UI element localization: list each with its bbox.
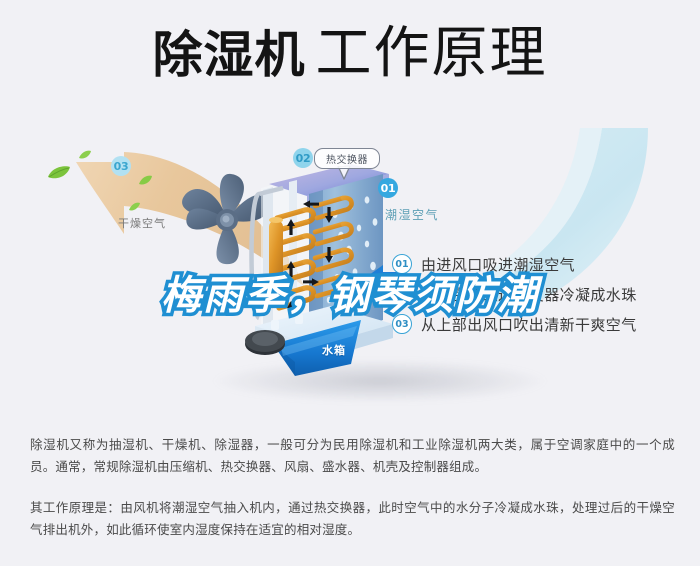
title-part-1: 除湿机 <box>153 26 306 84</box>
infographic-page: 除湿机工作原理 <box>0 0 700 566</box>
legend-text-01: 由进风口吸进潮湿空气 <box>421 254 575 275</box>
legend-item-01: 01 由进风口吸进潮湿空气 <box>392 249 692 279</box>
legend-number-01: 01 <box>392 254 412 274</box>
leaf-icon-4 <box>128 202 141 212</box>
title-part-2: 工作原理 <box>316 21 548 86</box>
leaf-icon-2 <box>78 150 92 160</box>
legend-text-02: 潮湿空气经过蒸发器冷凝成水珠 <box>421 284 637 305</box>
diagram-badge-02: 02 <box>293 148 313 168</box>
diagram-badge-01: 01 <box>378 178 398 198</box>
body-paragraph-1: 除湿机又称为抽湿机、干燥机、除湿器，一般可分为民用除湿机和工业除湿机两大类，属于… <box>30 434 675 478</box>
legend-number-03: 03 <box>392 314 412 334</box>
body-paragraph-2: 其工作原理是：由风机将潮湿空气抽入机内，通过热交换器，此时空气中的水分子冷凝成水… <box>30 497 675 541</box>
page-title: 除湿机工作原理 <box>0 26 700 82</box>
legend-item-03: 03 从上部出风口吹出清新干爽空气 <box>392 309 692 339</box>
legend-item-02: 02 潮湿空气经过蒸发器冷凝成水珠 <box>392 279 692 309</box>
legend-list: 01 由进风口吸进潮湿空气 02 潮湿空气经过蒸发器冷凝成水珠 03 从上部出风… <box>392 249 692 339</box>
legend-text-03: 从上部出风口吹出清新干爽空气 <box>421 314 637 335</box>
legend-number-02: 02 <box>392 284 412 304</box>
water-tank-label: 水箱 <box>322 342 346 358</box>
leaf-icon-3 <box>138 175 153 186</box>
leaf-icon-1 <box>46 165 72 181</box>
dry-air-label: 干燥空气 <box>118 215 166 231</box>
humid-air-label: 潮湿空气 <box>385 206 439 223</box>
heat-exchanger-callout: 热交换器 <box>314 148 380 169</box>
diagram-badge-03: 03 <box>111 156 131 176</box>
